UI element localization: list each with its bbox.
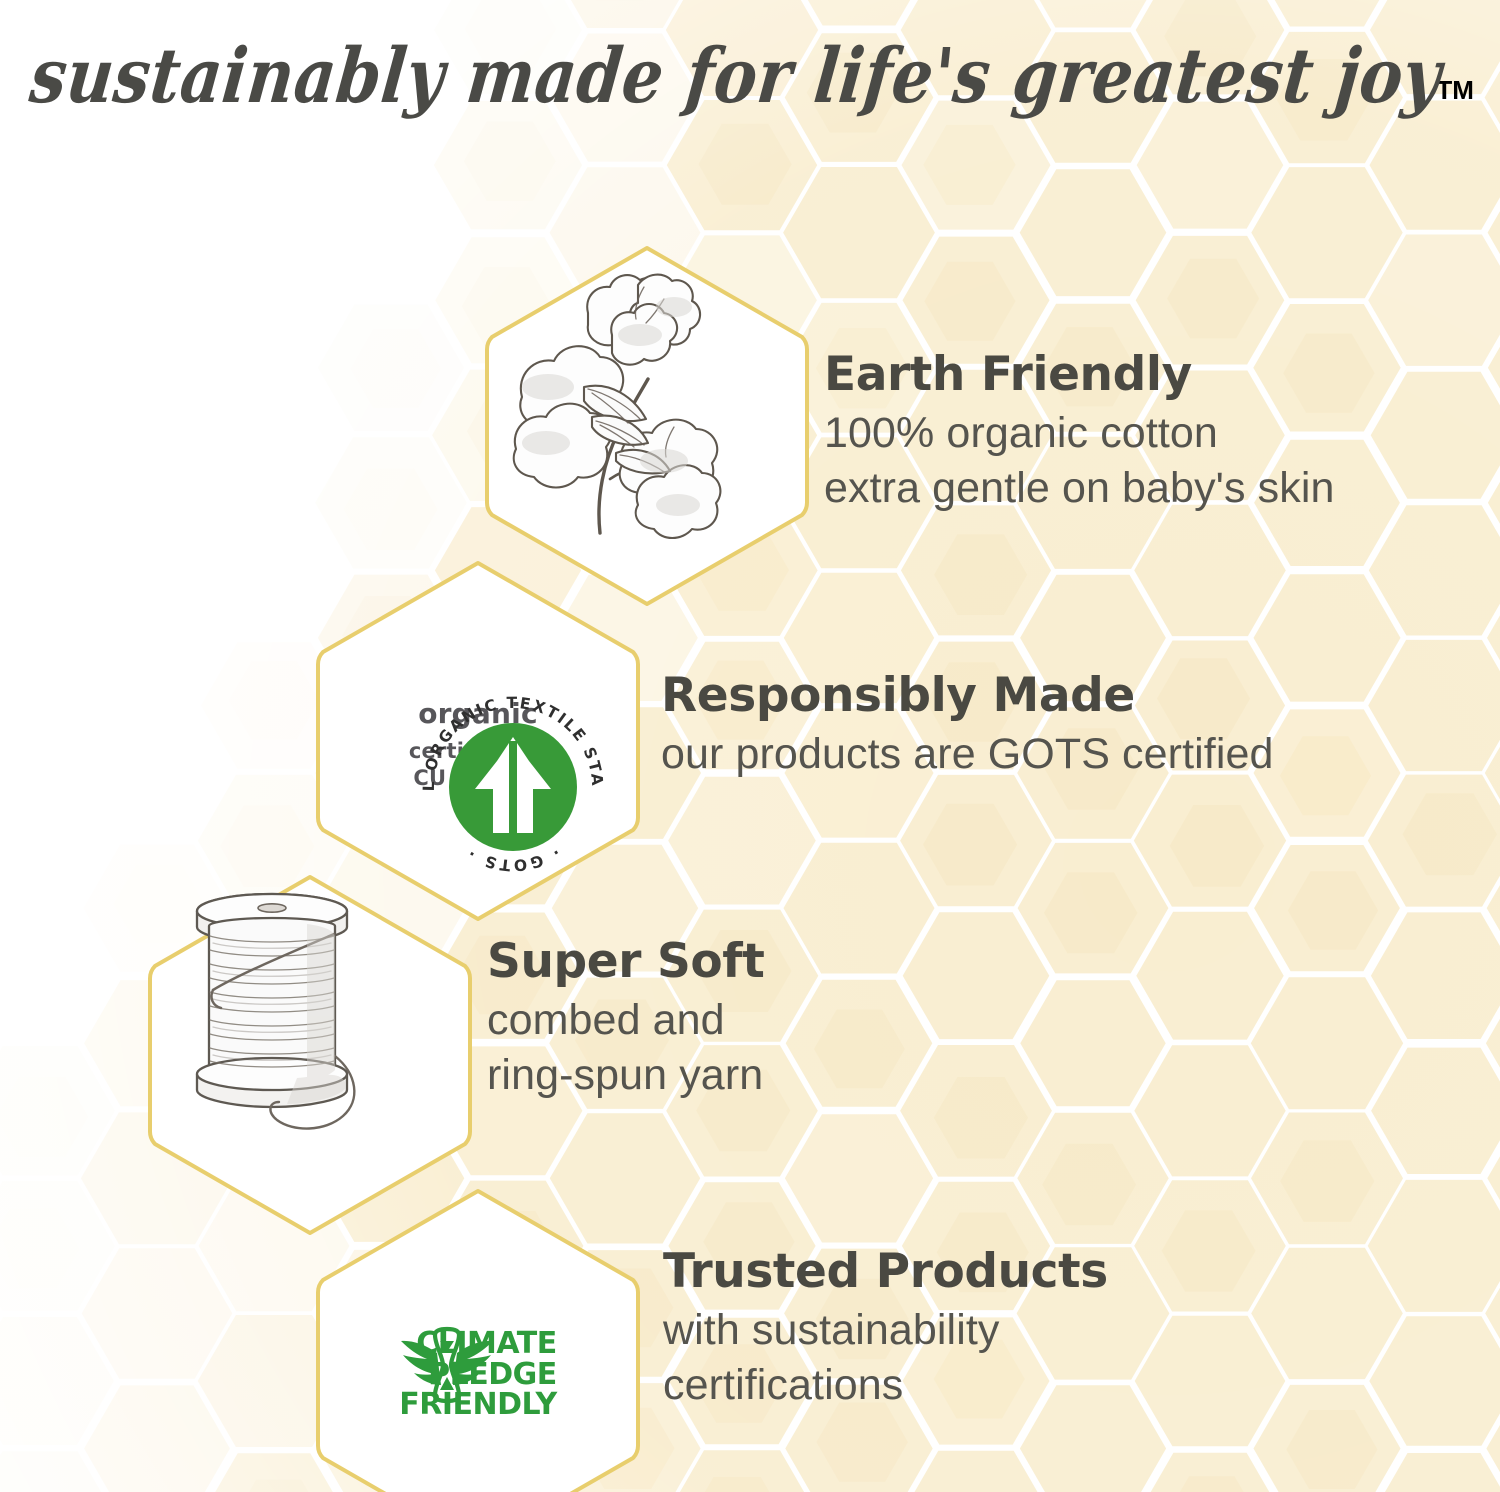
feature-title: Trusted Products <box>663 1245 1108 1299</box>
hex-card-super-soft <box>145 872 475 1238</box>
feature-line: our products are GOTS certified <box>661 727 1274 782</box>
cotton-branch-illustration <box>488 247 738 537</box>
feature-title: Super Soft <box>487 935 764 989</box>
promo-infographic: sustainably made for life's greatest joy… <box>0 0 1500 1492</box>
feature-line: extra gentle on baby's skin <box>824 461 1335 516</box>
hex-card-earth-friendly <box>482 243 812 609</box>
feature-line: 100% organic cotton <box>824 406 1335 461</box>
tagline: sustainably made for life's greatest joy… <box>0 46 1500 121</box>
feature-text-super-soft: Super Soft combed and ring-spun yarn <box>487 935 764 1103</box>
feature-line: ring-spun yarn <box>487 1048 764 1103</box>
feature-title: Responsibly Made <box>661 669 1274 723</box>
feature-title: Earth Friendly <box>824 348 1335 402</box>
feature-text-responsibly-made: Responsibly Made our products are GOTS c… <box>661 669 1274 782</box>
gots-certification-logo: GLOBAL ORGANIC TEXTILE STANDARD · GOTS ·… <box>409 683 547 792</box>
feature-line: with sustainability <box>663 1303 1108 1358</box>
gots-seal-icon: GLOBAL ORGANIC TEXTILE STANDARD · GOTS · <box>409 683 617 891</box>
trademark-symbol: TM <box>1436 75 1474 106</box>
winged-hourglass-icon <box>399 1327 495 1405</box>
feature-line: combed and <box>487 993 764 1048</box>
climate-pledge-friendly-logo: CLIMATE PLEDGE FRIENDLY <box>399 1329 556 1421</box>
feature-text-earth-friendly: Earth Friendly 100% organic cotton extra… <box>824 348 1335 516</box>
thread-spool-illustration <box>147 878 397 1148</box>
feature-line: certifications <box>663 1358 1108 1413</box>
hex-card-trusted-products: CLIMATE PLEDGE FRIENDLY <box>313 1186 643 1492</box>
hex-card-responsibly-made: GLOBAL ORGANIC TEXTILE STANDARD · GOTS ·… <box>313 558 643 924</box>
tagline-text: sustainably made for life's greatest joy <box>26 33 1446 122</box>
feature-text-trusted-products: Trusted Products with sustainability cer… <box>663 1245 1108 1413</box>
